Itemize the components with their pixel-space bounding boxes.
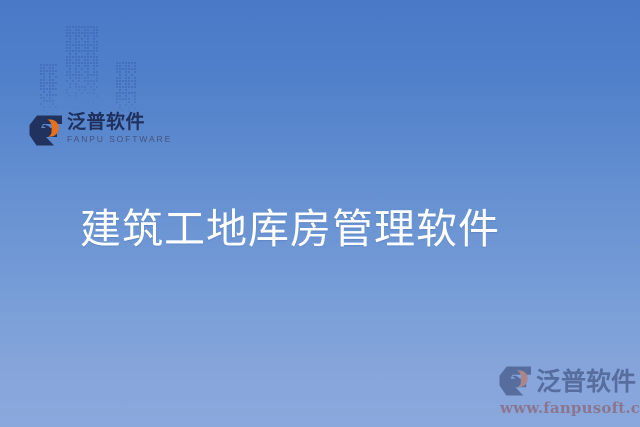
fanpu-hexagon-swoosh-logo-icon: [29, 115, 62, 146]
skyline-svg: [40, 26, 140, 118]
watermark: 泛普软件 www.fanpusoft.com: [498, 364, 638, 418]
promo-banner: 泛普软件 FANPU SOFTWARE 建筑工地库房管理软件 泛普软件 www.…: [0, 0, 640, 427]
logo-mark-svg: [29, 115, 62, 146]
watermark-logo-row: 泛普软件: [498, 364, 638, 398]
brand-logo: 泛普软件 FANPU SOFTWARE: [29, 113, 164, 155]
watermark-hex-shape: [500, 366, 531, 395]
watermark-logo-svg: [498, 366, 532, 396]
brand-wordmark: 泛普软件 FANPU SOFTWARE: [67, 113, 172, 144]
brand-name-cn: 泛普软件: [67, 113, 172, 132]
watermark-brand-name: 泛普软件: [536, 369, 636, 394]
brand-name-en: FANPU SOFTWARE: [67, 135, 172, 144]
fanpu-hexagon-swoosh-logo-icon: [498, 366, 532, 396]
watermark-inner-shape: [512, 376, 521, 388]
watermark-url: www.fanpusoft.com: [500, 399, 638, 417]
watermark-swoosh-shape: [516, 370, 527, 387]
page-title: 建筑工地库房管理软件: [80, 209, 500, 250]
dotted-building-skyline-icon: [40, 26, 140, 118]
